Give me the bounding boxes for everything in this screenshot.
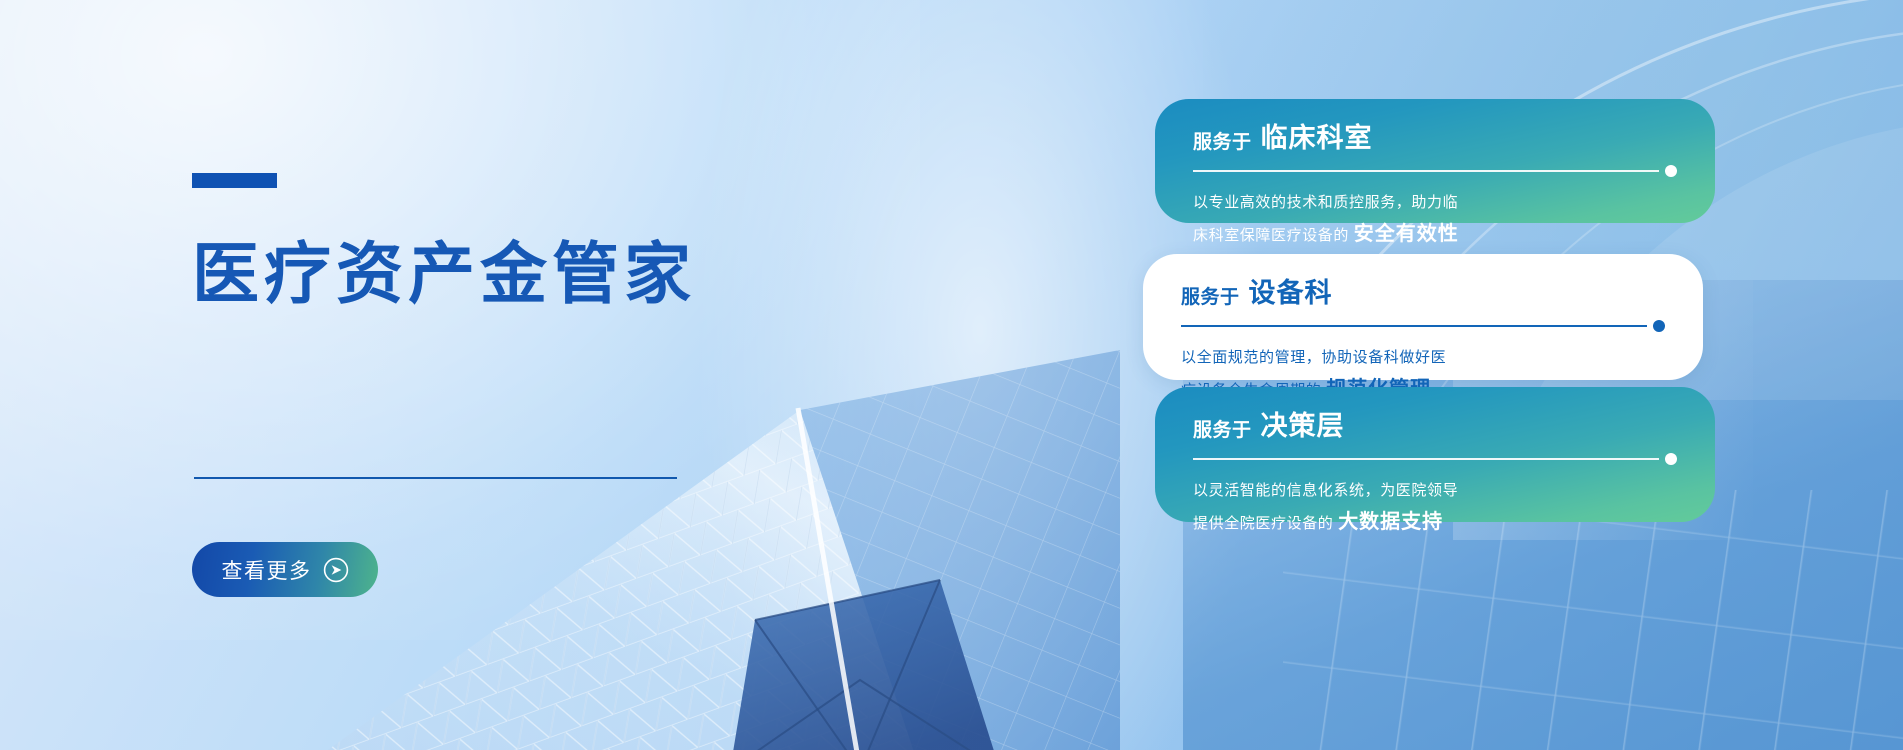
accent-dash xyxy=(192,173,277,188)
card-heading-target: 决策层 xyxy=(1261,413,1345,440)
card-divider xyxy=(1193,165,1677,177)
card-description: 以灵活智能的信息化系统，为医院领导 提供全院医疗设备的 大数据支持 xyxy=(1193,478,1677,540)
card-heading-target: 设备科 xyxy=(1249,280,1333,307)
card-heading: 服务于 决策层 xyxy=(1193,413,1677,440)
card-description-line-1: 以专业高效的技术和质控服务，助力临 xyxy=(1193,190,1677,217)
service-card-equipment-department[interactable]: 服务于 设备科 以全面规范的管理，协助设备科做好医 疗设备全生命周期的 规范化管… xyxy=(1143,254,1703,380)
card-divider-dot xyxy=(1653,320,1665,332)
card-description-line-1: 以全面规范的管理，协助设备科做好医 xyxy=(1181,345,1665,372)
hero-banner: 医疗资产金管家 查看更多 服务于 临床科室 以专业高效的技术和质控服务，助力临 xyxy=(0,0,1903,750)
service-card-clinical-department[interactable]: 服务于 临床科室 以专业高效的技术和质控服务，助力临 床科室保障医疗设备的 安全… xyxy=(1155,99,1715,223)
card-heading: 服务于 设备科 xyxy=(1181,280,1665,307)
card-heading-prefix: 服务于 xyxy=(1193,421,1252,440)
card-divider-dot xyxy=(1665,165,1677,177)
card-description-line-2-plain: 提供全院医疗设备的 xyxy=(1193,515,1333,532)
card-heading-target: 临床科室 xyxy=(1261,125,1373,152)
card-description-line-2: 提供全院医疗设备的 大数据支持 xyxy=(1193,505,1677,541)
title-divider xyxy=(194,477,677,479)
card-description-line-1: 以灵活智能的信息化系统，为医院领导 xyxy=(1193,478,1677,505)
hero-left-column: 医疗资产金管家 查看更多 xyxy=(192,0,812,750)
card-divider xyxy=(1181,320,1665,332)
card-description-line-2-plain: 床科室保障医疗设备的 xyxy=(1193,227,1349,244)
card-heading-prefix: 服务于 xyxy=(1181,288,1240,307)
page-title: 医疗资产金管家 xyxy=(192,236,696,313)
circle-arrow-right-icon xyxy=(323,557,349,583)
service-card-decision-layer[interactable]: 服务于 决策层 以灵活智能的信息化系统，为医院领导 提供全院医疗设备的 大数据支… xyxy=(1155,387,1715,522)
service-cards: 服务于 临床科室 以专业高效的技术和质控服务，助力临 床科室保障医疗设备的 安全… xyxy=(1143,0,1903,750)
card-description: 以专业高效的技术和质控服务，助力临 床科室保障医疗设备的 安全有效性 xyxy=(1193,190,1677,252)
view-more-button[interactable]: 查看更多 xyxy=(192,542,378,597)
view-more-label: 查看更多 xyxy=(222,555,312,585)
card-heading-prefix: 服务于 xyxy=(1193,133,1252,152)
card-description-line-2: 床科室保障医疗设备的 安全有效性 xyxy=(1193,217,1677,253)
card-description-emphasis: 安全有效性 xyxy=(1354,223,1459,245)
card-divider-line xyxy=(1193,170,1659,172)
card-divider xyxy=(1193,453,1677,465)
card-heading: 服务于 临床科室 xyxy=(1193,125,1677,152)
card-divider-dot xyxy=(1665,453,1677,465)
card-description-emphasis: 大数据支持 xyxy=(1338,511,1443,533)
card-divider-line xyxy=(1193,458,1659,460)
card-divider-line xyxy=(1181,325,1647,327)
